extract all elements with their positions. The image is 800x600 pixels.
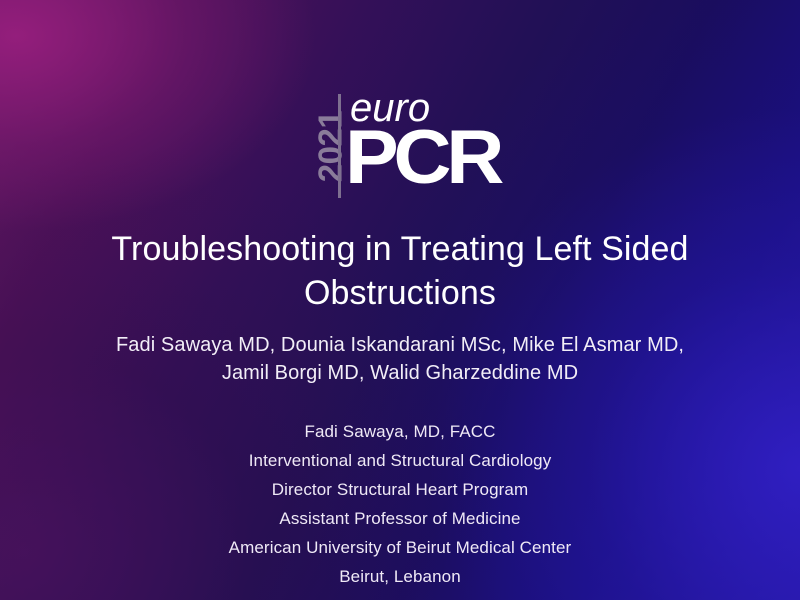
affiliation-line: Beirut, Lebanon [100, 562, 700, 591]
affiliation-line: Interventional and Structural Cardiology [100, 446, 700, 475]
affiliation-line: Director Structural Heart Program [100, 475, 700, 504]
logo-year-label: 2021 [314, 97, 347, 197]
author-list: Fadi Sawaya MD, Dounia Iskandarani MSc, … [95, 331, 705, 388]
presenter-affiliation-block: Fadi Sawaya, MD, FACC Interventional and… [100, 417, 700, 591]
affiliation-line: American University of Beirut Medical Ce… [100, 533, 700, 562]
slide-title: Troubleshooting in Treating Left Sided O… [70, 228, 730, 315]
presentation-slide: 2021 euro PCR Troubleshooting in Treatin… [0, 0, 800, 600]
logo-divider [338, 94, 341, 198]
logo-pcr-text: PCR [345, 120, 499, 196]
affiliation-line: Assistant Professor of Medicine [100, 504, 700, 533]
europcr-logo: 2021 euro PCR [296, 92, 506, 200]
affiliation-line: Fadi Sawaya, MD, FACC [100, 417, 700, 446]
